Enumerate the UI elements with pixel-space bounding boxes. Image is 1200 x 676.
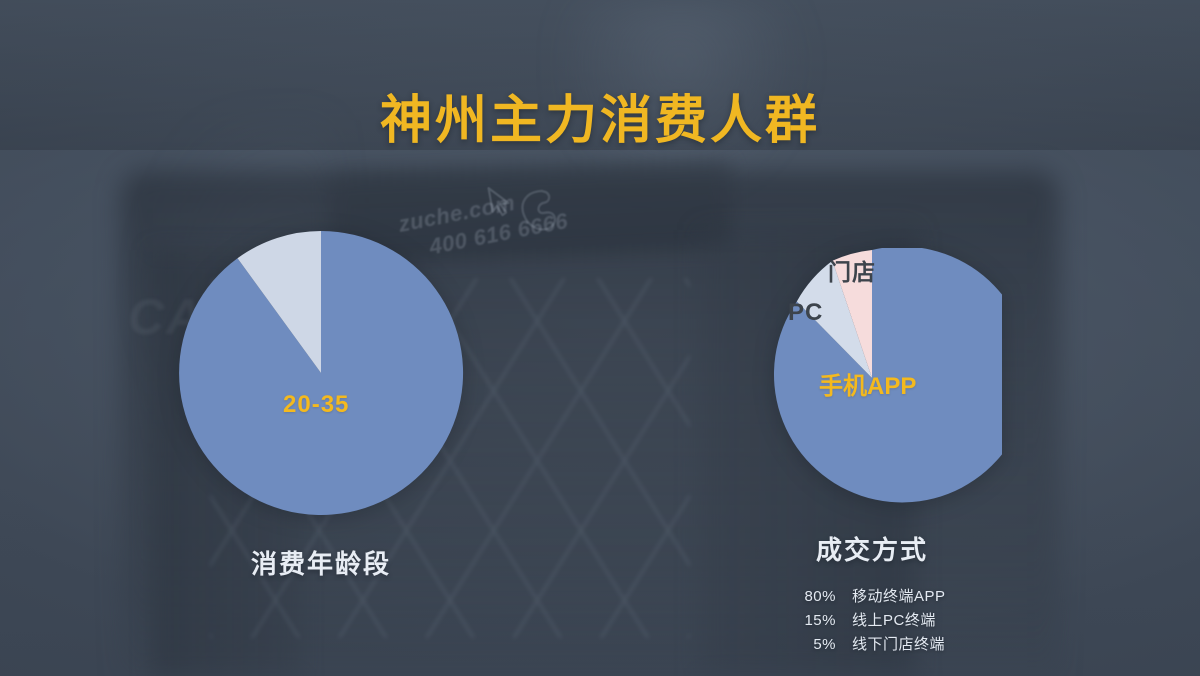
legend-label: 移动终端APP — [852, 585, 946, 606]
legend-item: 15% 线上PC终端 — [782, 609, 962, 630]
chart-caption-age: 消费年龄段 — [176, 544, 466, 581]
pie-age-wrap: 20-35 — [176, 228, 466, 518]
chart-consumer-age: 20-35 消费年龄段 — [176, 228, 466, 581]
legend-label: 线下门店终端 — [852, 633, 945, 654]
legend-item: 80% 移动终端APP — [782, 585, 962, 606]
legend-percent: 80% — [782, 588, 836, 605]
legend-deal-method: 80% 移动终端APP 15% 线上PC终端 5% 线下门店终端 — [742, 585, 1002, 654]
page-title: 神州主力消费人群 — [0, 78, 1200, 153]
legend-percent: 5% — [782, 636, 836, 653]
legend-label: 线上PC终端 — [852, 609, 936, 630]
pie-deal-wrap: 手机APP PC 门店 — [742, 248, 1002, 508]
chart-deal-method: 手机APP PC 门店 成交方式 80% 移动终端APP 15% 线上PC终端 … — [742, 248, 1002, 654]
presentation-slide: CAR zuche.com 400 616 6666 神州主力消费人群 20-3… — [0, 0, 1200, 676]
legend-percent: 15% — [782, 612, 836, 629]
pie-chart-age — [176, 228, 466, 518]
legend-item: 5% 线下门店终端 — [782, 633, 962, 654]
pie-slice-age-20-35[interactable] — [179, 231, 463, 515]
pie-chart-deal — [742, 248, 1002, 508]
chart-caption-deal: 成交方式 — [742, 530, 1002, 567]
